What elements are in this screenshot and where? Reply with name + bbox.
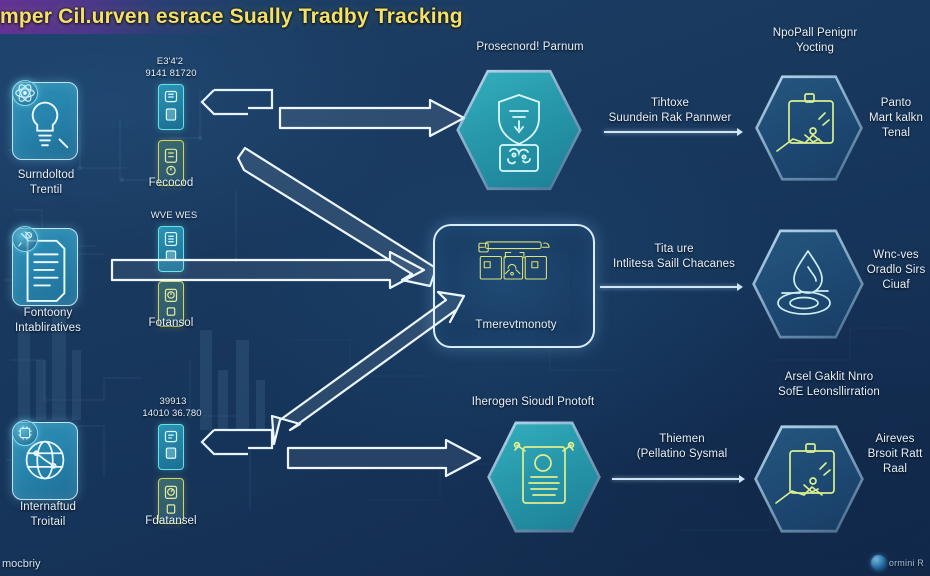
- midcard-top-1[interactable]: [158, 84, 184, 130]
- source-label-2: Fontoony Intabliratives: [0, 306, 100, 336]
- process-out-label-3: Thiemen (Pellatino Sysmal: [608, 432, 756, 462]
- source-badge-3: [12, 420, 38, 446]
- process-title-1: Prosecnord! Parnum: [455, 40, 605, 55]
- process-title-3: Iherogen Sioudl Pnotoft: [440, 395, 626, 410]
- diagram-canvas: mper Cil.urven esrace Sually Tradby Trac…: [0, 0, 930, 576]
- connector-line-3: [612, 478, 740, 480]
- flow-arrow-row1: [278, 98, 468, 138]
- midcard-label-3: Fdatansel: [131, 514, 211, 529]
- process-out-label-2: Tita ure Intlitesa Saill Chacanes: [598, 242, 750, 272]
- midcard-toplabel-1b: E3'4'2: [140, 56, 200, 68]
- connector-line-1: [604, 131, 738, 133]
- midcard-label-1: Fecocod: [131, 176, 211, 191]
- footer-note: mocbriy: [2, 558, 41, 570]
- dataflow-stack-icon: [489, 421, 599, 533]
- midcard-toplabel-3: 14010 36.780: [124, 408, 220, 420]
- connector-line-2: [600, 286, 738, 288]
- pin-icon: [13, 227, 37, 251]
- oil-drop-icon: [754, 229, 862, 339]
- flow-arrow-diagonal-up: [270, 278, 470, 450]
- outcome-title-3: Arsel Gaklit Nnro SofE Leonsllirration: [744, 370, 914, 400]
- outcome-side-label-1: Panto Mart kalkn Tenal: [862, 96, 930, 141]
- flow-arrow-row3: [286, 438, 484, 478]
- outcome-hexagon-3[interactable]: [756, 425, 862, 533]
- outcome-side-label-3: Aireves Brsoit Ratt Raal: [860, 432, 930, 477]
- handshake-screen-icon: [756, 425, 862, 533]
- shield-brain-icon: [458, 69, 580, 191]
- handshake-screen-icon: [757, 75, 861, 181]
- atom-icon: [13, 81, 37, 105]
- outcome-side-label-2: Wnc-ves Oradlo Sirs Ciuaf: [862, 248, 930, 293]
- globe-badge-icon: [871, 555, 886, 570]
- watermark-label: ormini R: [889, 558, 924, 568]
- midcard-toplabel-2: WVE WES: [128, 210, 220, 222]
- process-out-label-1: Tihtoxe Suundein Rak Pannwer: [590, 96, 750, 126]
- chip-card-icon: [159, 85, 183, 127]
- outcome-title-1: NpoPall Penignr Yocting: [740, 26, 890, 56]
- midcard-toplabel-3b: 39913: [145, 396, 201, 408]
- chip-icon: [13, 421, 37, 445]
- midcard-top-3[interactable]: [158, 424, 184, 470]
- watermark: ormini R: [871, 555, 924, 570]
- process-hexagon-1[interactable]: [458, 69, 580, 191]
- process-hexagon-3[interactable]: [489, 421, 599, 533]
- outcome-hexagon-2[interactable]: [754, 229, 862, 339]
- outcome-hexagon-1[interactable]: [757, 75, 861, 181]
- source-label-1: Surndoltod Trentil: [0, 168, 92, 198]
- midcard-toplabel-1: 9141 81720: [126, 68, 216, 80]
- source-label-3: Internaftud Troitail: [0, 500, 98, 530]
- midcard-label-2: Fotansol: [131, 316, 211, 331]
- source-badge-1: [12, 80, 38, 106]
- page-title: mper Cil.urven esrace Sually Tradby Trac…: [0, 2, 620, 34]
- card-reader-icon: [159, 425, 183, 467]
- source-badge-2: [12, 226, 38, 252]
